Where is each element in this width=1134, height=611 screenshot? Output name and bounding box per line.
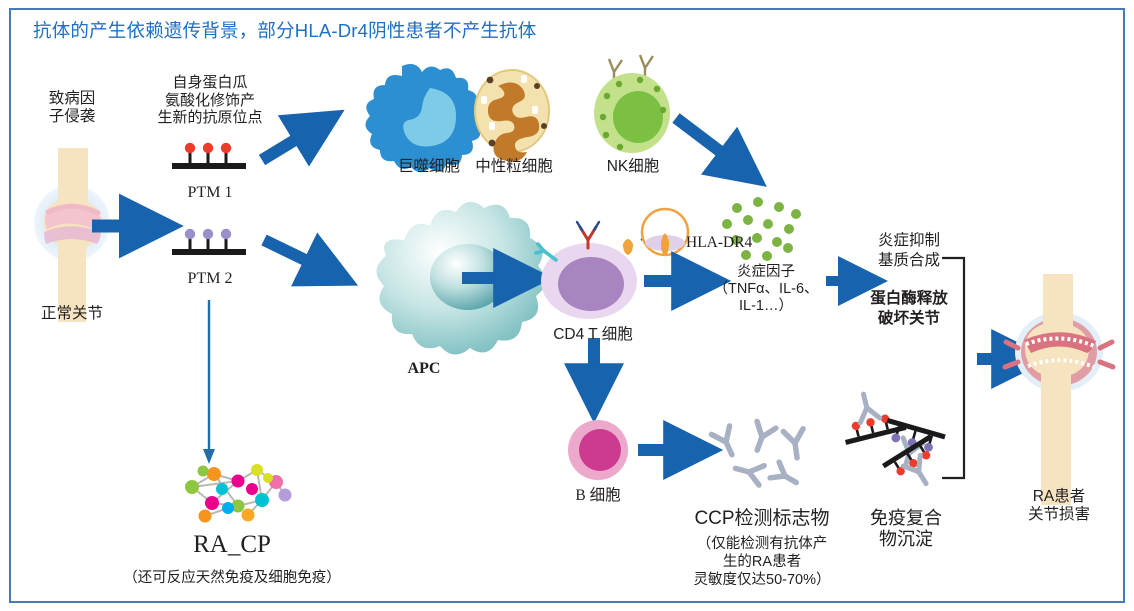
outcome-line-1: 炎症抑制 xyxy=(862,232,956,250)
normal-joint-label: 正常关节 xyxy=(20,305,124,323)
ra-joint-label: RA患者 关节损害 xyxy=(1002,488,1116,525)
racp-note: （还可反应天然免疫及细胞免疫） xyxy=(76,570,388,587)
cytokine-label: 炎症因子 （TNFα、IL-6、 IL-1…） xyxy=(702,264,830,315)
ccp-note-line-3: 灵敏度仅达50-70%） xyxy=(648,572,876,589)
hla-dr4-label: HLA-DR4 xyxy=(686,234,782,252)
apc-label: APC xyxy=(378,360,470,379)
cell-label-neutrophil: 中性粒细胞 xyxy=(456,158,572,176)
cell-label-nk: NK细胞 xyxy=(578,158,688,176)
ptm-caption: 自身蛋白瓜 氨酸化修饰产 生新的抗原位点 xyxy=(140,74,280,127)
diagram-canvas: 抗体的产生依赖遗传背景，部分HLA-Dr4阴性患者不产生抗体 xyxy=(0,0,1134,611)
ccp-note-line-2: 生的RA患者 xyxy=(648,554,876,571)
page-title: 抗体的产生依赖遗传背景，部分HLA-Dr4阴性患者不产生抗体 xyxy=(33,17,536,43)
immune-complex-label: 免疫复合 物沉淀 xyxy=(848,508,964,550)
ccp-title: CCP检测标志物 xyxy=(656,508,868,530)
ptm2-label: PTM 2 xyxy=(166,270,254,289)
outcome-line-3: 蛋白酶释放 xyxy=(856,290,962,308)
outcome-line-2: 基质合成 xyxy=(862,252,956,270)
ptm1-label: PTM 1 xyxy=(166,184,254,203)
outcome-line-4: 破坏关节 xyxy=(856,310,962,328)
cd4-label: CD4 T 细胞 xyxy=(530,326,656,344)
trigger-label: 致病因 子侵袭 xyxy=(22,90,122,127)
ccp-note-line-1: （仅能检测有抗体产 xyxy=(648,536,876,553)
racp-title: RA_CP xyxy=(168,530,296,560)
b-cell-label: B 细胞 xyxy=(552,487,644,505)
